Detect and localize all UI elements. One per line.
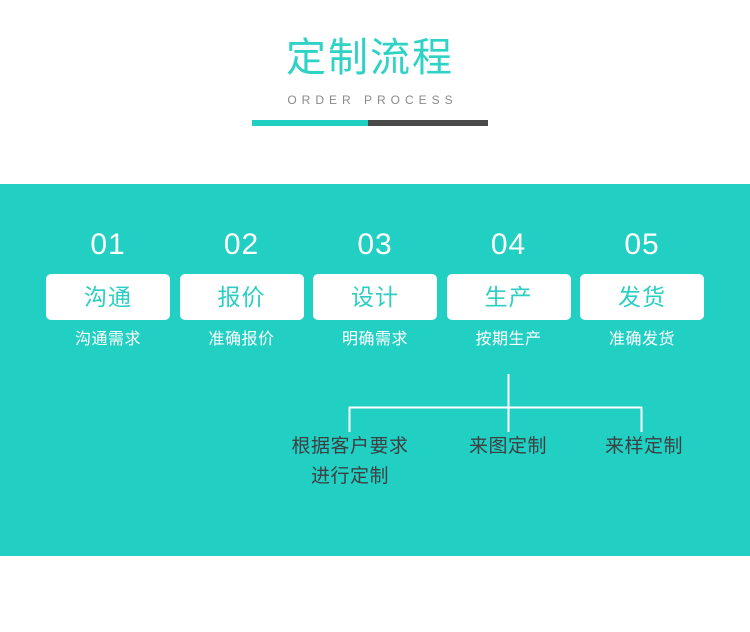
process-step-03: 03 设计 明确需求: [313, 226, 437, 350]
branch-label-line1: 来图定制: [469, 436, 547, 457]
process-panel: 01 沟通 沟通需求 02 报价 准确报价 03 设计 明确需求 04 生产: [0, 184, 750, 556]
step-card[interactable]: 设计: [313, 274, 437, 320]
step-description: 按期生产: [447, 330, 571, 350]
step-card-label: 沟通: [84, 284, 132, 310]
step-number: 02: [180, 226, 304, 264]
branch-label-line1: 来样定制: [605, 436, 683, 457]
title-divider: [252, 120, 488, 126]
process-step-04: 04 生产 按期生产: [447, 226, 571, 350]
title-divider-accent: [252, 120, 368, 126]
branch-label-line2: 进行定制: [255, 462, 445, 492]
branch-labels: 根据客户要求 进行定制 来图定制 来样定制: [0, 432, 750, 512]
step-card[interactable]: 沟通: [46, 274, 170, 320]
page-title: 定制流程: [252, 32, 488, 84]
step-number: 03: [313, 226, 437, 264]
step-description: 沟通需求: [46, 330, 170, 350]
process-step-01: 01 沟通 沟通需求: [46, 226, 170, 350]
process-step-02: 02 报价 准确报价: [180, 226, 304, 350]
step-card[interactable]: 生产: [447, 274, 571, 320]
step-description: 准确发货: [580, 330, 704, 350]
step-card-label: 设计: [351, 284, 399, 310]
step-number: 04: [447, 226, 571, 264]
process-steps: 01 沟通 沟通需求 02 报价 准确报价 03 设计 明确需求 04 生产: [46, 226, 704, 350]
branch-label-2: 来图定制: [443, 432, 573, 462]
step-description: 明确需求: [313, 330, 437, 350]
step-number: 01: [46, 226, 170, 264]
step-number: 05: [580, 226, 704, 264]
step-card[interactable]: 报价: [180, 274, 304, 320]
header-text-group: 定制流程 ORDER PROCESS: [252, 32, 488, 108]
page-header: 定制流程 ORDER PROCESS: [0, 0, 750, 184]
step-card[interactable]: 发货: [580, 274, 704, 320]
branch-label-line1: 根据客户要求: [291, 436, 408, 457]
branch-label-3: 来样定制: [577, 432, 711, 462]
process-step-05: 05 发货 准确发货: [580, 226, 704, 350]
step-card-label: 发货: [618, 284, 666, 310]
step-card-label: 生产: [485, 284, 533, 310]
branch-label-1: 根据客户要求 进行定制: [255, 432, 445, 492]
step-card-label: 报价: [218, 284, 266, 310]
page-subtitle: ORDER PROCESS: [252, 92, 488, 108]
step-description: 准确报价: [180, 330, 304, 350]
